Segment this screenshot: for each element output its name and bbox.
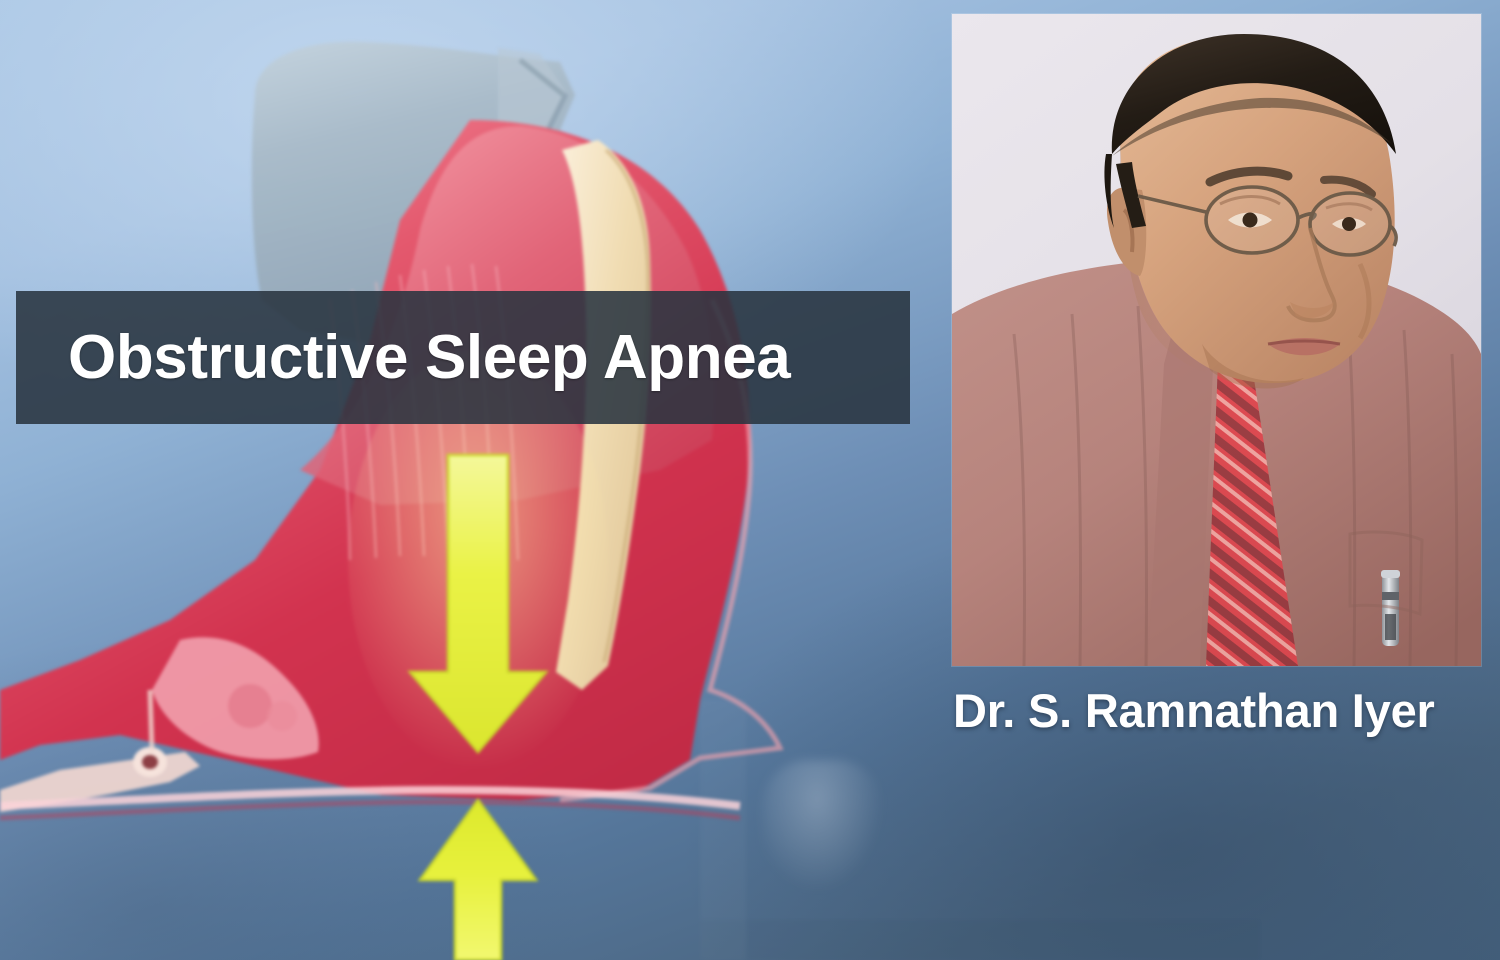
title-banner: Obstructive Sleep Apnea bbox=[16, 291, 910, 424]
slide-canvas: Obstructive Sleep Apnea bbox=[0, 0, 1500, 960]
portrait-photo bbox=[952, 14, 1481, 666]
airway-illustration bbox=[0, 0, 960, 960]
page-title: Obstructive Sleep Apnea bbox=[68, 327, 790, 389]
photo-caption: Dr. S. Ramnathan Iyer bbox=[953, 683, 1435, 738]
